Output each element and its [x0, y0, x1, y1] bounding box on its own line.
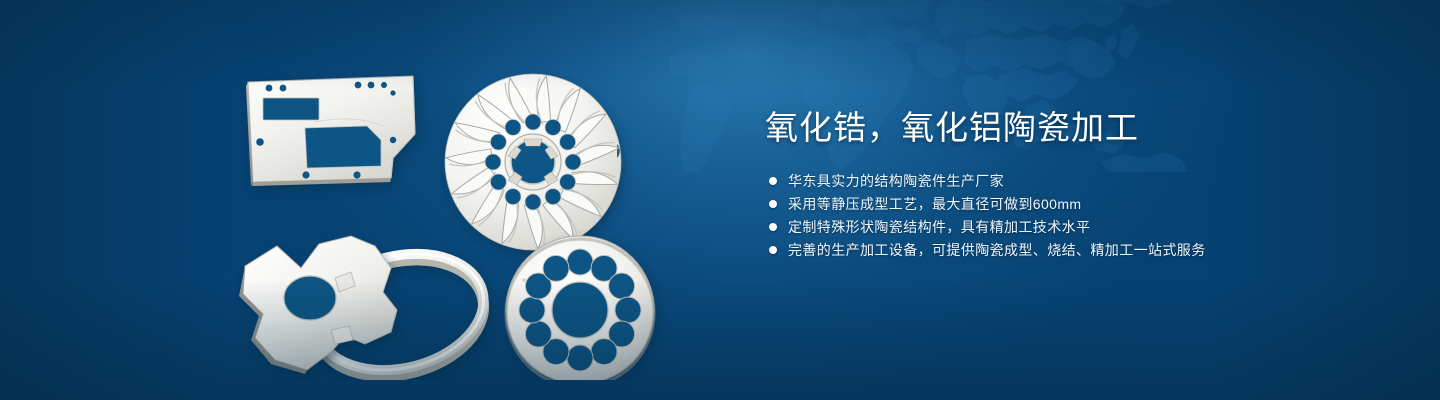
list-item: 采用等静压成型工艺，最大直径可做到600mm: [769, 193, 1385, 216]
list-item-label: 采用等静压成型工艺，最大直径可做到600mm: [788, 194, 1081, 214]
bullet-dot-icon: [769, 223, 777, 231]
banner-feature-list: 华东具实力的结构陶瓷件生产厂家 采用等静压成型工艺，最大直径可做到600mm 定…: [765, 170, 1385, 262]
bullet-dot-icon: [769, 200, 777, 208]
bullet-dot-icon: [769, 246, 777, 254]
list-item: 完善的生产加工设备，可提供陶瓷成型、烧结、精加工一站式服务: [769, 239, 1385, 262]
list-item-label: 定制特殊形状陶瓷结构件，具有精加工技术水平: [788, 217, 1090, 237]
list-item: 定制特殊形状陶瓷结构件，具有精加工技术水平: [769, 216, 1385, 239]
promo-banner: 氧化锆，氧化铝陶瓷加工 华东具实力的结构陶瓷件生产厂家 采用等静压成型工艺，最大…: [0, 0, 1440, 400]
list-item-label: 华东具实力的结构陶瓷件生产厂家: [788, 171, 1004, 191]
bullet-dot-icon: [769, 177, 777, 185]
list-item-label: 完善的生产加工设备，可提供陶瓷成型、烧结、精加工一站式服务: [788, 240, 1206, 260]
banner-headline: 氧化锆，氧化铝陶瓷加工: [765, 108, 1385, 148]
banner-copy: 氧化锆，氧化铝陶瓷加工 华东具实力的结构陶瓷件生产厂家 采用等静压成型工艺，最大…: [765, 108, 1385, 262]
list-item: 华东具实力的结构陶瓷件生产厂家: [769, 170, 1385, 193]
